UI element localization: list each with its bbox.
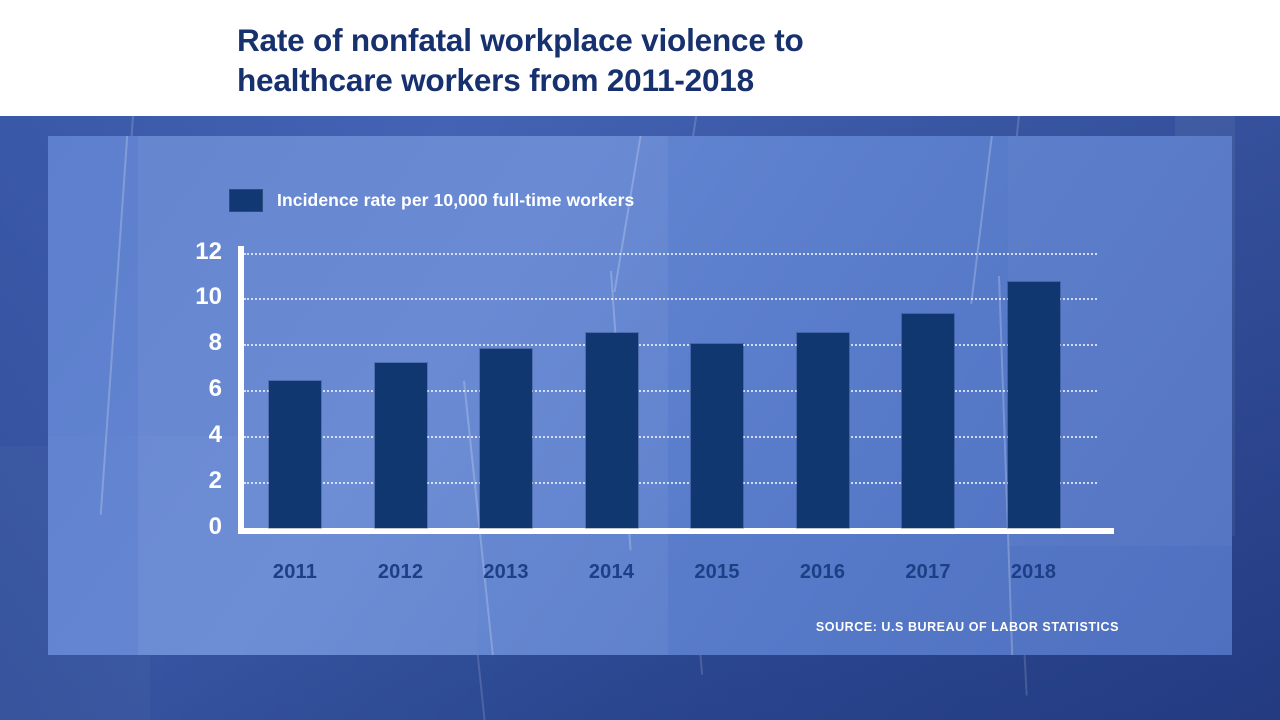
panel-streak — [463, 381, 495, 655]
legend-swatch-icon — [229, 189, 263, 212]
panel-pane — [1008, 136, 1232, 546]
panel-streak — [610, 271, 632, 550]
infographic-screen: Rate of nonfatal workplace violence to h… — [0, 0, 1280, 720]
header-band: Rate of nonfatal workplace violence to h… — [0, 0, 1280, 116]
page-title: Rate of nonfatal workplace violence to h… — [237, 21, 1137, 100]
panel-streak — [100, 136, 138, 515]
source-attribution: SOURCE: U.S BUREAU OF LABOR STATISTICS — [0, 620, 1119, 634]
panel-streak — [998, 276, 1014, 655]
chart-legend: Incidence rate per 10,000 full-time work… — [229, 189, 634, 212]
chart-panel — [48, 136, 1232, 655]
panel-streak — [613, 136, 664, 292]
legend-label: Incidence rate per 10,000 full-time work… — [277, 190, 634, 211]
panel-streak — [970, 136, 1010, 304]
panel-pane — [138, 136, 668, 655]
